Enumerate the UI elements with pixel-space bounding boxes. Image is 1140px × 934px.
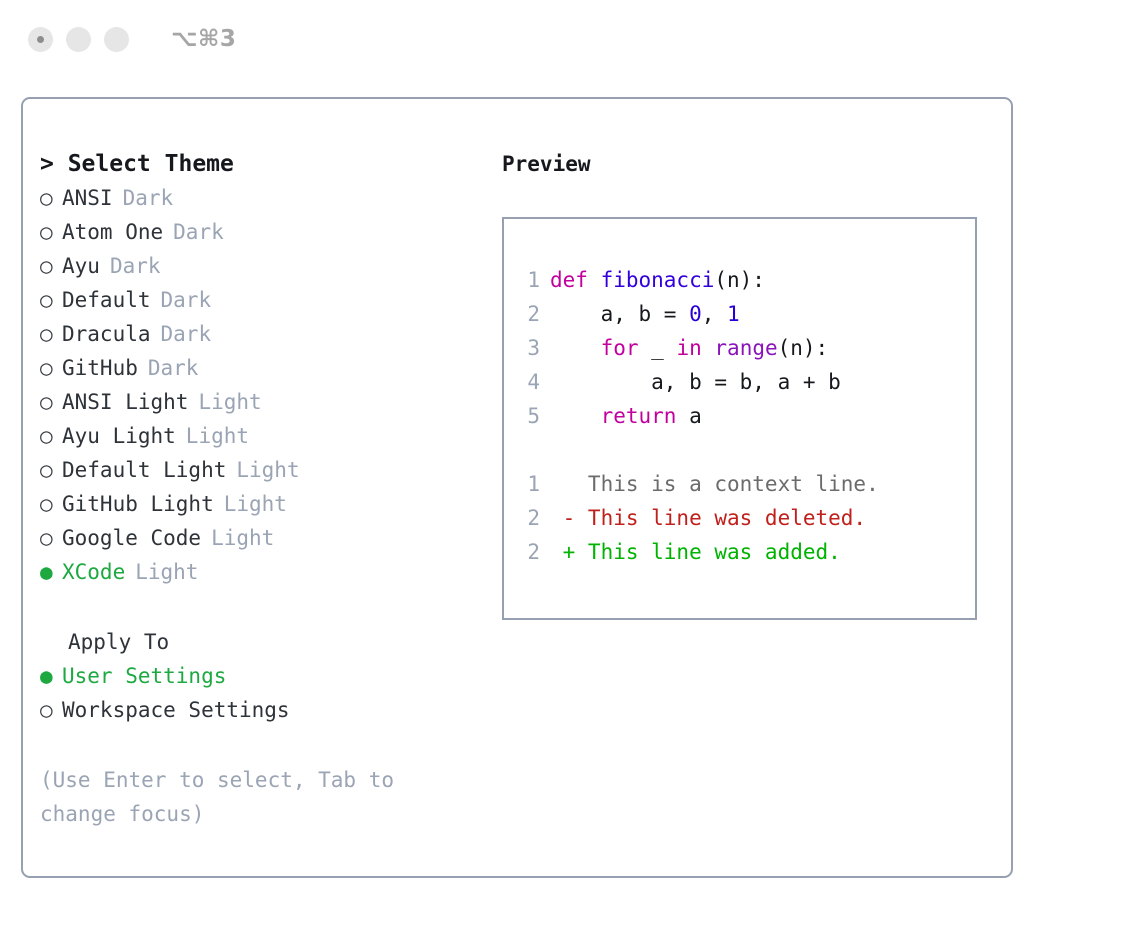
radio-unselected-icon: ○ [40, 453, 62, 487]
theme-option-variant: Dark [123, 181, 174, 215]
token-plain: (n): [778, 336, 829, 360]
radio-unselected-icon: ○ [40, 419, 62, 453]
line-content: a, b = b, a + b [550, 365, 841, 399]
apply-to-option-workspace-settings[interactable]: ○Workspace Settings [40, 693, 490, 727]
token-kw: in [676, 336, 701, 360]
token-plain [550, 336, 601, 360]
theme-option-label: Ayu [62, 249, 100, 283]
code-blank-line [504, 433, 975, 467]
line-number: 5 [504, 399, 550, 433]
diff-line: 2 + This line was added. [504, 535, 975, 569]
line-number: 3 [504, 331, 550, 365]
code-line: 4 a, b = b, a + b [504, 365, 975, 399]
token-plain: a, b = [550, 302, 689, 326]
radio-selected-icon: ● [40, 555, 62, 589]
line-number: 4 [504, 365, 550, 399]
theme-option-label: Default Light [62, 453, 226, 487]
line-content: + This line was added. [550, 535, 841, 569]
theme-option-xcode[interactable]: ●XCodeLight [40, 555, 490, 589]
theme-option-variant: Dark [161, 317, 212, 351]
theme-option-ayu[interactable]: ○AyuDark [40, 249, 490, 283]
code-line: 1def fibonacci(n): [504, 263, 975, 297]
theme-option-dracula[interactable]: ○DraculaDark [40, 317, 490, 351]
theme-option-github-light[interactable]: ○GitHub LightLight [40, 487, 490, 521]
theme-option-variant: Dark [110, 249, 161, 283]
preview-title: Preview [502, 147, 992, 181]
token-builtin: range [714, 336, 777, 360]
theme-option-variant: Light [198, 385, 261, 419]
traffic-light-active-dot [37, 36, 44, 43]
panel-spacer [40, 589, 490, 625]
theme-option-label: ANSI [62, 181, 113, 215]
apply-to-heading: Apply To [40, 625, 490, 659]
token-del: - This line was deleted. [550, 506, 866, 530]
radio-unselected-icon: ○ [40, 215, 62, 249]
radio-unselected-icon: ○ [40, 249, 62, 283]
theme-option-label: Google Code [62, 521, 201, 555]
token-plain [702, 336, 715, 360]
token-num: 0 [689, 302, 702, 326]
token-fn: fibonacci [601, 268, 715, 292]
line-number: 1 [504, 467, 550, 501]
radio-unselected-icon: ○ [40, 351, 62, 385]
window-columns: > Select Theme ○ANSIDark○Atom OneDark○Ay… [23, 99, 1011, 876]
diff-snippet: 1 This is a context line.2 - This line w… [504, 467, 975, 569]
token-add: + This line was added. [550, 540, 841, 564]
line-content: return a [550, 399, 702, 433]
line-number: 2 [504, 535, 550, 569]
radio-unselected-icon: ○ [40, 487, 62, 521]
select-theme-heading: > Select Theme [40, 147, 490, 181]
radio-selected-icon: ● [40, 659, 62, 693]
apply-to-option-label: Workspace Settings [62, 693, 290, 727]
traffic-light-active[interactable] [28, 27, 53, 52]
token-plain: , [702, 302, 727, 326]
theme-option-google-code[interactable]: ○Google CodeLight [40, 521, 490, 555]
line-number: 2 [504, 501, 550, 535]
token-plain [550, 404, 601, 428]
code-snippet: 1def fibonacci(n):2 a, b = 0, 13 for _ i… [504, 263, 975, 433]
theme-option-label: GitHub [62, 351, 138, 385]
code-line: 2 a, b = 0, 1 [504, 297, 975, 331]
token-ctx: This is a context line. [550, 472, 879, 496]
theme-option-label: Dracula [62, 317, 151, 351]
token-plain: a [676, 404, 701, 428]
main-window: > Select Theme ○ANSIDark○Atom OneDark○Ay… [21, 97, 1013, 878]
theme-option-ansi[interactable]: ○ANSIDark [40, 181, 490, 215]
theme-option-label: Ayu Light [62, 419, 176, 453]
token-plain: a, b = b, a + b [550, 370, 841, 394]
diff-line: 1 This is a context line. [504, 467, 975, 501]
line-content: for _ in range(n): [550, 331, 828, 365]
theme-picker-panel: > Select Theme ○ANSIDark○Atom OneDark○Ay… [40, 147, 490, 831]
preview-panel: Preview 1def fibonacci(n):2 a, b = 0, 13… [502, 147, 992, 620]
theme-option-ansi-light[interactable]: ○ANSI LightLight [40, 385, 490, 419]
theme-option-default[interactable]: ○DefaultDark [40, 283, 490, 317]
theme-option-variant: Dark [148, 351, 199, 385]
traffic-lights [28, 27, 129, 52]
code-line: 5 return a [504, 399, 975, 433]
line-content: This is a context line. [550, 467, 879, 501]
radio-unselected-icon: ○ [40, 693, 62, 727]
theme-option-label: GitHub Light [62, 487, 214, 521]
traffic-light-2[interactable] [66, 27, 91, 52]
theme-option-label: Atom One [62, 215, 163, 249]
code-line: 3 for _ in range(n): [504, 331, 975, 365]
radio-unselected-icon: ○ [40, 283, 62, 317]
theme-option-variant: Dark [173, 215, 224, 249]
token-kw: return [601, 404, 677, 428]
line-content: def fibonacci(n): [550, 263, 765, 297]
preview-code-box: 1def fibonacci(n):2 a, b = 0, 13 for _ i… [502, 217, 977, 620]
theme-option-label: XCode [62, 555, 125, 589]
theme-option-variant: Light [224, 487, 287, 521]
apply-to-list[interactable]: ●User Settings○Workspace Settings [40, 659, 490, 727]
keyboard-shortcut-label: ⌥⌘3 [171, 28, 236, 51]
token-plain: (n): [714, 268, 765, 292]
theme-option-default-light[interactable]: ○Default LightLight [40, 453, 490, 487]
traffic-light-3[interactable] [104, 27, 129, 52]
app-root: ⌥⌘3 > Select Theme ○ANSIDark○Atom OneDar… [0, 0, 1140, 934]
apply-to-option-user-settings[interactable]: ●User Settings [40, 659, 490, 693]
theme-option-label: Default [62, 283, 151, 317]
radio-unselected-icon: ○ [40, 317, 62, 351]
line-number: 2 [504, 297, 550, 331]
token-plain: _ [639, 336, 677, 360]
theme-option-variant: Dark [161, 283, 212, 317]
theme-option-label: ANSI Light [62, 385, 188, 419]
diff-line: 2 - This line was deleted. [504, 501, 975, 535]
token-kw: def [550, 268, 601, 292]
apply-to-option-label: User Settings [62, 659, 226, 693]
theme-list[interactable]: ○ANSIDark○Atom OneDark○AyuDark○DefaultDa… [40, 181, 490, 589]
token-num: 1 [727, 302, 740, 326]
theme-option-atom-one[interactable]: ○Atom OneDark [40, 215, 490, 249]
line-content: - This line was deleted. [550, 501, 866, 535]
theme-option-ayu-light[interactable]: ○Ayu LightLight [40, 419, 490, 453]
theme-option-variant: Light [236, 453, 299, 487]
theme-option-variant: Light [186, 419, 249, 453]
theme-option-variant: Light [211, 521, 274, 555]
token-kw: for [601, 336, 639, 360]
radio-unselected-icon: ○ [40, 385, 62, 419]
keyboard-hint: (Use Enter to select, Tab to change focu… [40, 763, 450, 831]
theme-option-github[interactable]: ○GitHubDark [40, 351, 490, 385]
radio-unselected-icon: ○ [40, 181, 62, 215]
radio-unselected-icon: ○ [40, 521, 62, 555]
line-number: 1 [504, 263, 550, 297]
theme-option-variant: Light [135, 555, 198, 589]
titlebar: ⌥⌘3 [0, 0, 1140, 78]
line-content: a, b = 0, 1 [550, 297, 740, 331]
